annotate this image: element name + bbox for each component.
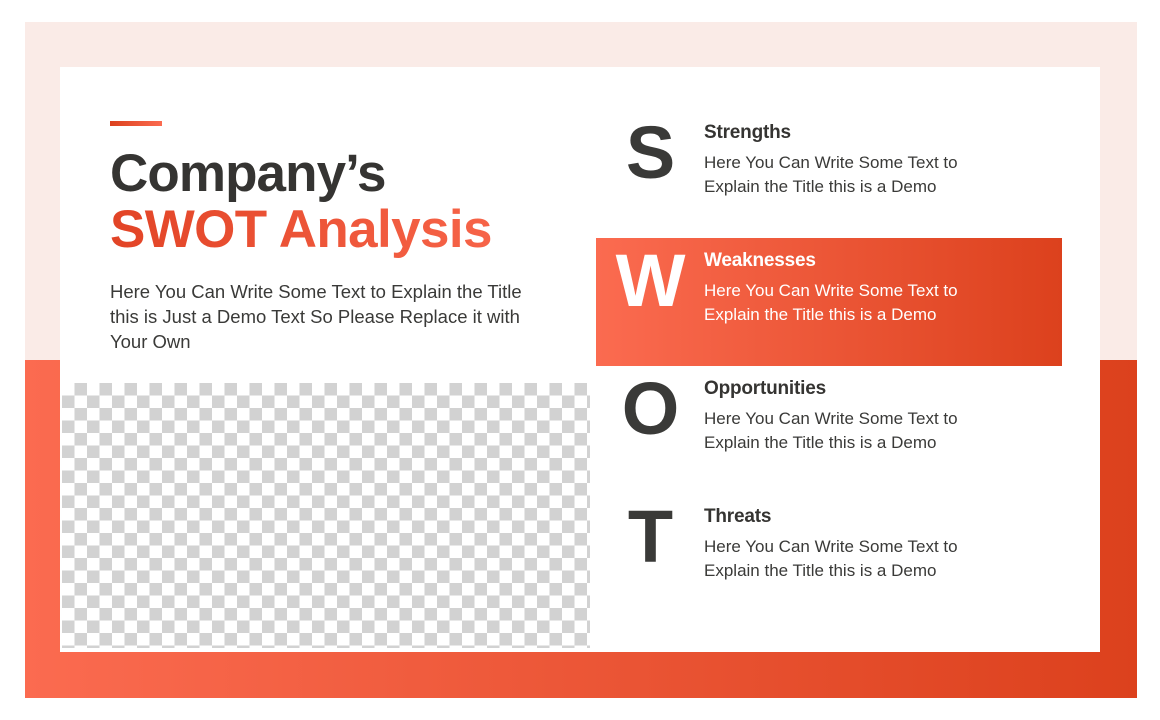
swot-title-opportunities: Opportunities (704, 378, 1062, 400)
swot-description-opportunities: Here You Can Write Some Text to Explain … (704, 407, 1004, 455)
swot-letter-o: O (596, 366, 704, 446)
swot-item-weaknesses[interactable]: W Weaknesses Here You Can Write Some Tex… (596, 238, 1062, 366)
swot-title-strengths: Strengths (704, 122, 1062, 144)
page-subtitle: Here You Can Write Some Text to Explain … (110, 280, 540, 354)
swot-description-strengths: Here You Can Write Some Text to Explain … (704, 151, 1004, 199)
swot-letter-w: W (596, 238, 704, 318)
swot-item-opportunities[interactable]: O Opportunities Here You Can Write Some … (596, 366, 1062, 494)
swot-description-threats: Here You Can Write Some Text to Explain … (704, 535, 1004, 583)
swot-text-strengths: Strengths Here You Can Write Some Text t… (704, 110, 1062, 199)
swot-text-weaknesses: Weaknesses Here You Can Write Some Text … (704, 238, 1062, 327)
accent-dash-icon (110, 121, 162, 126)
swot-slide: Company’s SWOT Analysis Here You Can Wri… (0, 0, 1160, 720)
page-title-line-2: SWOT Analysis (110, 201, 580, 258)
swot-text-opportunities: Opportunities Here You Can Write Some Te… (704, 366, 1062, 455)
swot-item-strengths[interactable]: S Strengths Here You Can Write Some Text… (596, 110, 1062, 238)
swot-description-weaknesses: Here You Can Write Some Text to Explain … (704, 279, 1004, 327)
swot-title-threats: Threats (704, 506, 1062, 528)
swot-item-threats[interactable]: T Threats Here You Can Write Some Text t… (596, 494, 1062, 622)
swot-list: S Strengths Here You Can Write Some Text… (596, 110, 1062, 622)
swot-text-threats: Threats Here You Can Write Some Text to … (704, 494, 1062, 583)
swot-title-weaknesses: Weaknesses (704, 250, 1062, 272)
swot-letter-t: T (596, 494, 704, 574)
title-block: Company’s SWOT Analysis Here You Can Wri… (110, 121, 580, 354)
page-title-line-1: Company’s (110, 146, 580, 201)
image-placeholder[interactable] (62, 383, 590, 648)
swot-letter-s: S (596, 110, 704, 190)
